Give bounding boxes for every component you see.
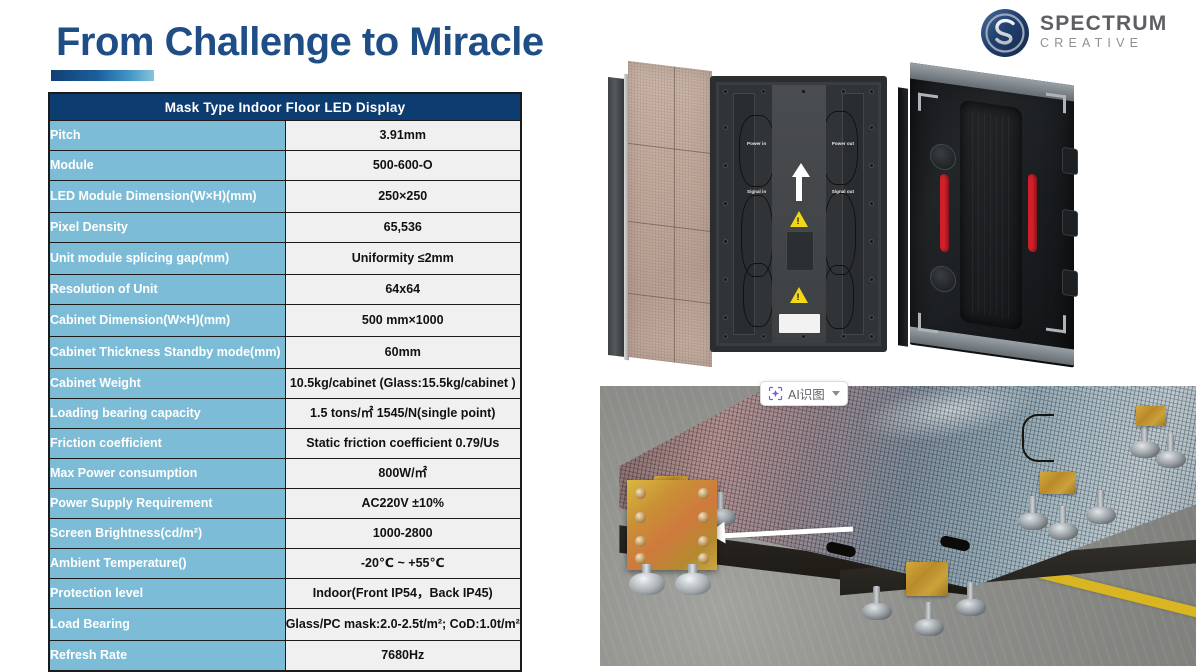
spectrum-s-emblem-icon: [980, 8, 1030, 58]
table-row: Pitch3.91mm: [49, 121, 521, 151]
spec-table-header-row: Mask Type Indoor Floor LED Display: [49, 93, 521, 121]
signal-in-label: Signal in: [747, 189, 766, 194]
ai-sparkle-scan-icon: [768, 386, 783, 401]
table-row: Screen Brightness(cd/m²)1000-2800: [49, 519, 521, 549]
page-title: From Challenge to Miracle: [56, 20, 544, 65]
warning-triangle-icon-2: [790, 287, 808, 303]
spec-value-cell: 500-600-O: [285, 151, 521, 181]
spec-value-cell: 250×250: [285, 181, 521, 213]
logo-tagline: CREATIVE: [1040, 35, 1167, 51]
table-row: Cabinet Weight10.5kg/cabinet (Glass:15.5…: [49, 369, 521, 399]
spec-value-cell: AC220V ±10%: [285, 489, 521, 519]
title-accent-rule: [51, 70, 154, 81]
led-cabinet-frame-image: [896, 70, 1086, 360]
spec-value-cell: -20℃ ~ +55℃: [285, 549, 521, 579]
spec-value-cell: 1.5 tons/㎡ 1545/N(single point): [285, 399, 521, 429]
power-out-label: Power out: [832, 141, 854, 146]
spec-table-body: Pitch3.91mmModule500-600-OLED Module Dim…: [49, 121, 521, 671]
spec-label-cell: LED Module Dimension(W×H)(mm): [49, 181, 285, 213]
spec-value-cell: Glass/PC mask:2.0-2.5t/m²; CoD:1.0t/m²: [285, 609, 521, 641]
spec-label-cell: Cabinet Thickness Standby mode(mm): [49, 337, 285, 369]
spec-label-cell: Cabinet Weight: [49, 369, 285, 399]
spec-label-cell: Unit module splicing gap(mm): [49, 243, 285, 275]
slide-root: From Challenge to Miracle SPECTRUM C: [0, 0, 1196, 666]
led-floor-installation-photo: [600, 386, 1196, 666]
spec-label-cell: Pitch: [49, 121, 285, 151]
table-row: Cabinet Dimension(W×H)(mm)500 mm×1000: [49, 305, 521, 337]
table-row: Ambient Temperature()-20℃ ~ +55℃: [49, 549, 521, 579]
table-row: Power Supply RequirementAC220V ±10%: [49, 489, 521, 519]
spec-label-cell: Protection level: [49, 579, 285, 609]
power-in-label: Power in: [747, 141, 766, 146]
led-panel-front-image: [608, 64, 713, 364]
spec-label-cell: Max Power consumption: [49, 459, 285, 489]
spec-label-cell: Cabinet Dimension(W×H)(mm): [49, 305, 285, 337]
spec-label-cell: Resolution of Unit: [49, 275, 285, 305]
up-arrow-icon: [792, 163, 810, 177]
spec-value-cell: 64x64: [285, 275, 521, 305]
logo-wordmark: SPECTRUM CREATIVE: [1040, 13, 1167, 51]
spec-label-cell: Loading bearing capacity: [49, 399, 285, 429]
table-row: Loading bearing capacity1.5 tons/㎡ 1545/…: [49, 399, 521, 429]
spec-value-cell: 3.91mm: [285, 121, 521, 151]
table-row: Cabinet Thickness Standby mode(mm)60mm: [49, 337, 521, 369]
logo-name: SPECTRUM: [1040, 13, 1167, 35]
ai-recognize-label: AI识图: [788, 384, 825, 403]
spec-value-cell: Indoor(Front IP54，Back IP45): [285, 579, 521, 609]
spec-value-cell: 60mm: [285, 337, 521, 369]
spec-value-cell: 1000-2800: [285, 519, 521, 549]
spec-label-cell: Module: [49, 151, 285, 181]
spec-label-cell: Friction coefficient: [49, 429, 285, 459]
spec-value-cell: 800W/㎡: [285, 459, 521, 489]
spec-label-cell: Ambient Temperature(): [49, 549, 285, 579]
table-row: Friction coefficientStatic friction coef…: [49, 429, 521, 459]
spec-label-cell: Load Bearing: [49, 609, 285, 641]
chevron-down-icon[interactable]: [832, 391, 840, 396]
led-cabinet-rear-image: Power in Power out Signal in Signal out: [710, 76, 887, 352]
spec-table: Mask Type Indoor Floor LED Display Pitch…: [48, 92, 522, 672]
spec-value-cell: 10.5kg/cabinet (Glass:15.5kg/cabinet ): [285, 369, 521, 399]
product-image-row: Power in Power out Signal in Signal out: [600, 56, 1196, 376]
table-row: Pixel Density65,536: [49, 213, 521, 243]
spec-value-cell: Uniformity ≤2mm: [285, 243, 521, 275]
bracket-detail-inset: [627, 480, 717, 570]
spec-table-title: Mask Type Indoor Floor LED Display: [49, 93, 521, 121]
spec-value-cell: 7680Hz: [285, 641, 521, 671]
table-row: Protection levelIndoor(Front IP54，Back I…: [49, 579, 521, 609]
ai-recognize-button[interactable]: AI识图: [760, 381, 848, 406]
table-row: Resolution of Unit64x64: [49, 275, 521, 305]
spec-label-cell: Power Supply Requirement: [49, 489, 285, 519]
table-row: Unit module splicing gap(mm)Uniformity ≤…: [49, 243, 521, 275]
table-row: Max Power consumption800W/㎡: [49, 459, 521, 489]
brand-logo: SPECTRUM CREATIVE: [980, 8, 1192, 58]
table-row: Module500-600-O: [49, 151, 521, 181]
signal-out-label: Signal out: [832, 189, 854, 194]
spec-label-cell: Pixel Density: [49, 213, 285, 243]
table-row: Refresh Rate7680Hz: [49, 641, 521, 671]
spec-label-cell: Screen Brightness(cd/m²): [49, 519, 285, 549]
spec-value-cell: Static friction coefficient 0.79/Us: [285, 429, 521, 459]
warning-triangle-icon: [790, 211, 808, 227]
spec-value-cell: 65,536: [285, 213, 521, 243]
table-row: Load BearingGlass/PC mask:2.0-2.5t/m²; C…: [49, 609, 521, 641]
table-row: LED Module Dimension(W×H)(mm)250×250: [49, 181, 521, 213]
spec-value-cell: 500 mm×1000: [285, 305, 521, 337]
spec-label-cell: Refresh Rate: [49, 641, 285, 671]
